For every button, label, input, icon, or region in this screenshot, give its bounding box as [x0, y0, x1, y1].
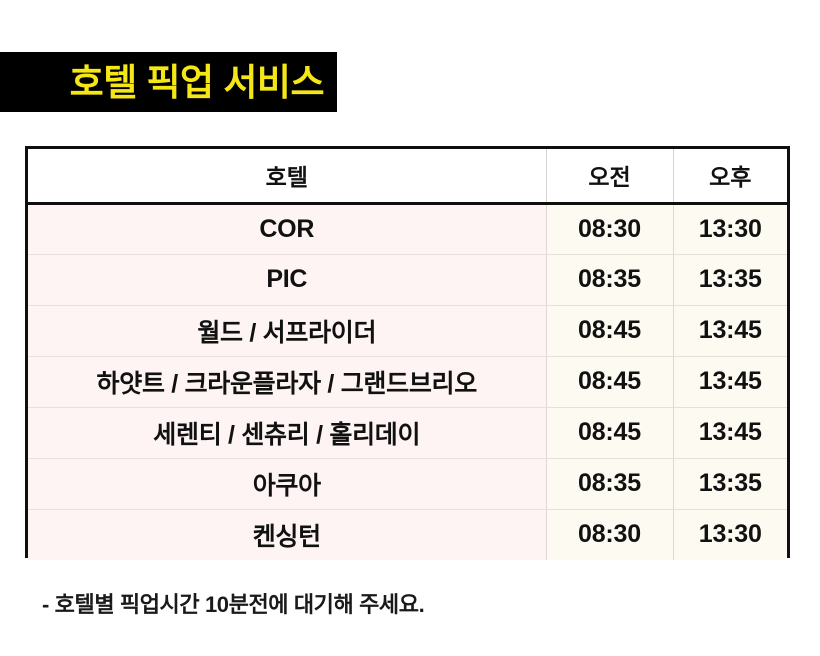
cell-am: 08:45 [546, 356, 673, 407]
cell-pm: 13:30 [673, 203, 787, 254]
column-header-hotel: 호텔 [28, 149, 546, 203]
table-row: PIC 08:35 13:35 [28, 254, 787, 305]
pickup-schedule-table: 호텔 오전 오후 COR 08:30 13:30 PIC 08:35 13:35… [28, 149, 787, 560]
table-header-row: 호텔 오전 오후 [28, 149, 787, 203]
table-header: 호텔 오전 오후 [28, 149, 787, 203]
title-banner: 호텔 픽업 서비스 [0, 52, 337, 112]
table-row: 세렌티 / 센츄리 / 홀리데이 08:45 13:45 [28, 407, 787, 458]
cell-hotel: 세렌티 / 센츄리 / 홀리데이 [28, 407, 546, 458]
page-title: 호텔 픽업 서비스 [70, 64, 324, 101]
table-row: COR 08:30 13:30 [28, 203, 787, 254]
cell-am: 08:45 [546, 305, 673, 356]
cell-pm: 13:45 [673, 356, 787, 407]
cell-hotel: 켄싱턴 [28, 509, 546, 560]
cell-am: 08:45 [546, 407, 673, 458]
pickup-service-page: 호텔 픽업 서비스 호텔 오전 오후 COR 08:30 13:30 [0, 0, 820, 656]
cell-pm: 13:45 [673, 407, 787, 458]
footnote-note: - 호텔별 픽업시간 10분전에 대기해 주세요. [42, 587, 424, 619]
cell-pm: 13:30 [673, 509, 787, 560]
column-header-am: 오전 [546, 149, 673, 203]
cell-hotel: PIC [28, 254, 546, 305]
pickup-schedule-table-container: 호텔 오전 오후 COR 08:30 13:30 PIC 08:35 13:35… [25, 146, 790, 558]
table-body: COR 08:30 13:30 PIC 08:35 13:35 월드 / 서프라… [28, 203, 787, 560]
cell-am: 08:35 [546, 254, 673, 305]
cell-am: 08:35 [546, 458, 673, 509]
cell-hotel: 하얏트 / 크라운플라자 / 그랜드브리오 [28, 356, 546, 407]
cell-am: 08:30 [546, 509, 673, 560]
table-row: 아쿠아 08:35 13:35 [28, 458, 787, 509]
table-row: 하얏트 / 크라운플라자 / 그랜드브리오 08:45 13:45 [28, 356, 787, 407]
cell-pm: 13:35 [673, 254, 787, 305]
table-row: 켄싱턴 08:30 13:30 [28, 509, 787, 560]
table-row: 월드 / 서프라이더 08:45 13:45 [28, 305, 787, 356]
cell-pm: 13:35 [673, 458, 787, 509]
cell-pm: 13:45 [673, 305, 787, 356]
column-header-pm: 오후 [673, 149, 787, 203]
cell-hotel: 월드 / 서프라이더 [28, 305, 546, 356]
cell-hotel: 아쿠아 [28, 458, 546, 509]
cell-am: 08:30 [546, 203, 673, 254]
cell-hotel: COR [28, 203, 546, 254]
